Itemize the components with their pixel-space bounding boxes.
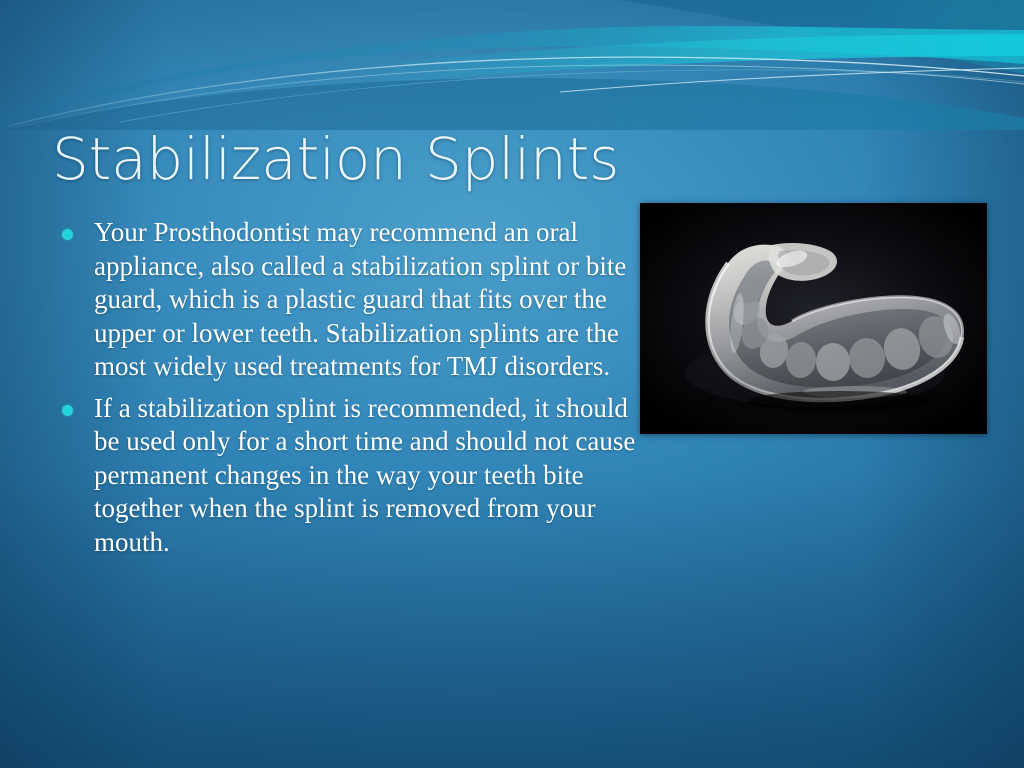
slide-title: Stabilization Splints: [52, 126, 792, 192]
wave-svg: [0, 0, 1024, 130]
splint-illustration: [640, 203, 987, 434]
splint-photo: [640, 203, 987, 434]
top-wave-decoration: [0, 0, 1024, 130]
bullet-list-item: Your Prosthodontist may recommend an ora…: [56, 216, 636, 384]
bullet-text: Your Prosthodontist may recommend an ora…: [94, 217, 626, 381]
bullet-dot-icon: [62, 229, 73, 240]
bullet-list-item: If a stabilization splint is recommended…: [56, 392, 636, 560]
bullet-text: If a stabilization splint is recommended…: [94, 393, 635, 557]
presentation-slide: Stabilization Splints Your Prosthodontis…: [0, 0, 1024, 768]
bullet-dot-icon: [62, 405, 73, 416]
wave-ribbon-deep-blue: [0, 78, 1024, 130]
slide-body-text: Your Prosthodontist may recommend an ora…: [56, 216, 636, 559]
